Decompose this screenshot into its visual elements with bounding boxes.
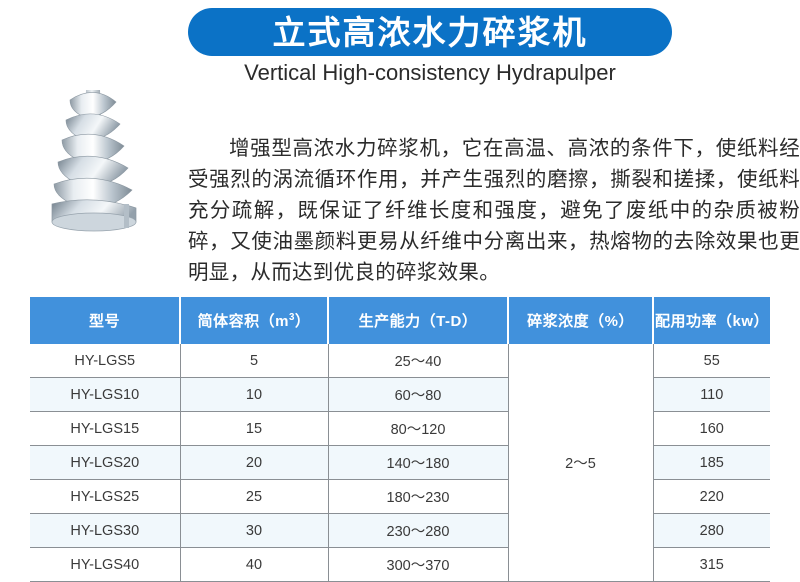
specification-table-container: 型号 简体容积（m3） 生产能力（T-D） 碎浆浓度（%） 配用功率（kw） H… — [30, 297, 770, 582]
table-row: HY-LGS2020140～180185 — [30, 446, 770, 480]
cell-power: 110 — [653, 378, 770, 412]
cell-output: 180～230 — [328, 480, 508, 514]
cell-power: 220 — [653, 480, 770, 514]
cell-model: HY-LGS10 — [30, 378, 180, 412]
cell-output: 80～120 — [328, 412, 508, 446]
cell-output: 230～280 — [328, 514, 508, 548]
cell-model: HY-LGS30 — [30, 514, 180, 548]
cell-power: 315 — [653, 548, 770, 582]
cell-output: 140～180 — [328, 446, 508, 480]
cell-output: 300～370 — [328, 548, 508, 582]
cell-model: HY-LGS40 — [30, 548, 180, 582]
cell-volume: 10 — [180, 378, 328, 412]
cell-model: HY-LGS15 — [30, 412, 180, 446]
table-row: HY-LGS2525180～230220 — [30, 480, 770, 514]
col-header-volume-text: 简体容积（m3） — [198, 313, 311, 330]
col-header-model: 型号 — [30, 297, 180, 344]
cell-volume: 25 — [180, 480, 328, 514]
cell-output: 25～40 — [328, 344, 508, 378]
cell-volume: 40 — [180, 548, 328, 582]
helical-screw-rotor-icon — [8, 76, 183, 246]
cell-concentration-merged: 2～5 — [508, 344, 653, 582]
table-header: 型号 简体容积（m3） 生产能力（T-D） 碎浆浓度（%） 配用功率（kw） — [30, 297, 770, 344]
table-header-row: 型号 简体容积（m3） 生产能力（T-D） 碎浆浓度（%） 配用功率（kw） — [30, 297, 770, 344]
col-header-concentration: 碎浆浓度（%） — [508, 297, 653, 344]
table-body: HY-LGS5525～402～555HY-LGS101060～80110HY-L… — [30, 344, 770, 582]
title-banner: 立式高浓水力碎浆机 — [188, 8, 672, 56]
specification-table: 型号 简体容积（m3） 生产能力（T-D） 碎浆浓度（%） 配用功率（kw） H… — [30, 297, 770, 582]
cell-volume: 5 — [180, 344, 328, 378]
product-description: 增强型高浓水力碎浆机，它在高温、高浓的条件下，使纸料经受强烈的涡流循环作用，并产… — [188, 133, 800, 288]
cell-volume: 20 — [180, 446, 328, 480]
cell-output: 60～80 — [328, 378, 508, 412]
cell-model: HY-LGS25 — [30, 480, 180, 514]
cell-volume: 15 — [180, 412, 328, 446]
page-title: 立式高浓水力碎浆机 — [273, 16, 588, 49]
table-row: HY-LGS4040300～370315 — [30, 548, 770, 582]
table-row: HY-LGS151580～120160 — [30, 412, 770, 446]
table-row: HY-LGS101060～80110 — [30, 378, 770, 412]
col-header-output: 生产能力（T-D） — [328, 297, 508, 344]
page-subtitle: Vertical High-consistency Hydrapulper — [188, 60, 672, 86]
table-row: HY-LGS5525～402～555 — [30, 344, 770, 378]
cell-model: HY-LGS5 — [30, 344, 180, 378]
cell-power: 160 — [653, 412, 770, 446]
cell-volume: 30 — [180, 514, 328, 548]
product-image — [8, 76, 183, 246]
cell-power: 280 — [653, 514, 770, 548]
cell-power: 55 — [653, 344, 770, 378]
col-header-power: 配用功率（kw） — [653, 297, 770, 344]
table-row: HY-LGS3030230～280280 — [30, 514, 770, 548]
cell-power: 185 — [653, 446, 770, 480]
col-header-volume: 简体容积（m3） — [180, 297, 328, 344]
cell-model: HY-LGS20 — [30, 446, 180, 480]
